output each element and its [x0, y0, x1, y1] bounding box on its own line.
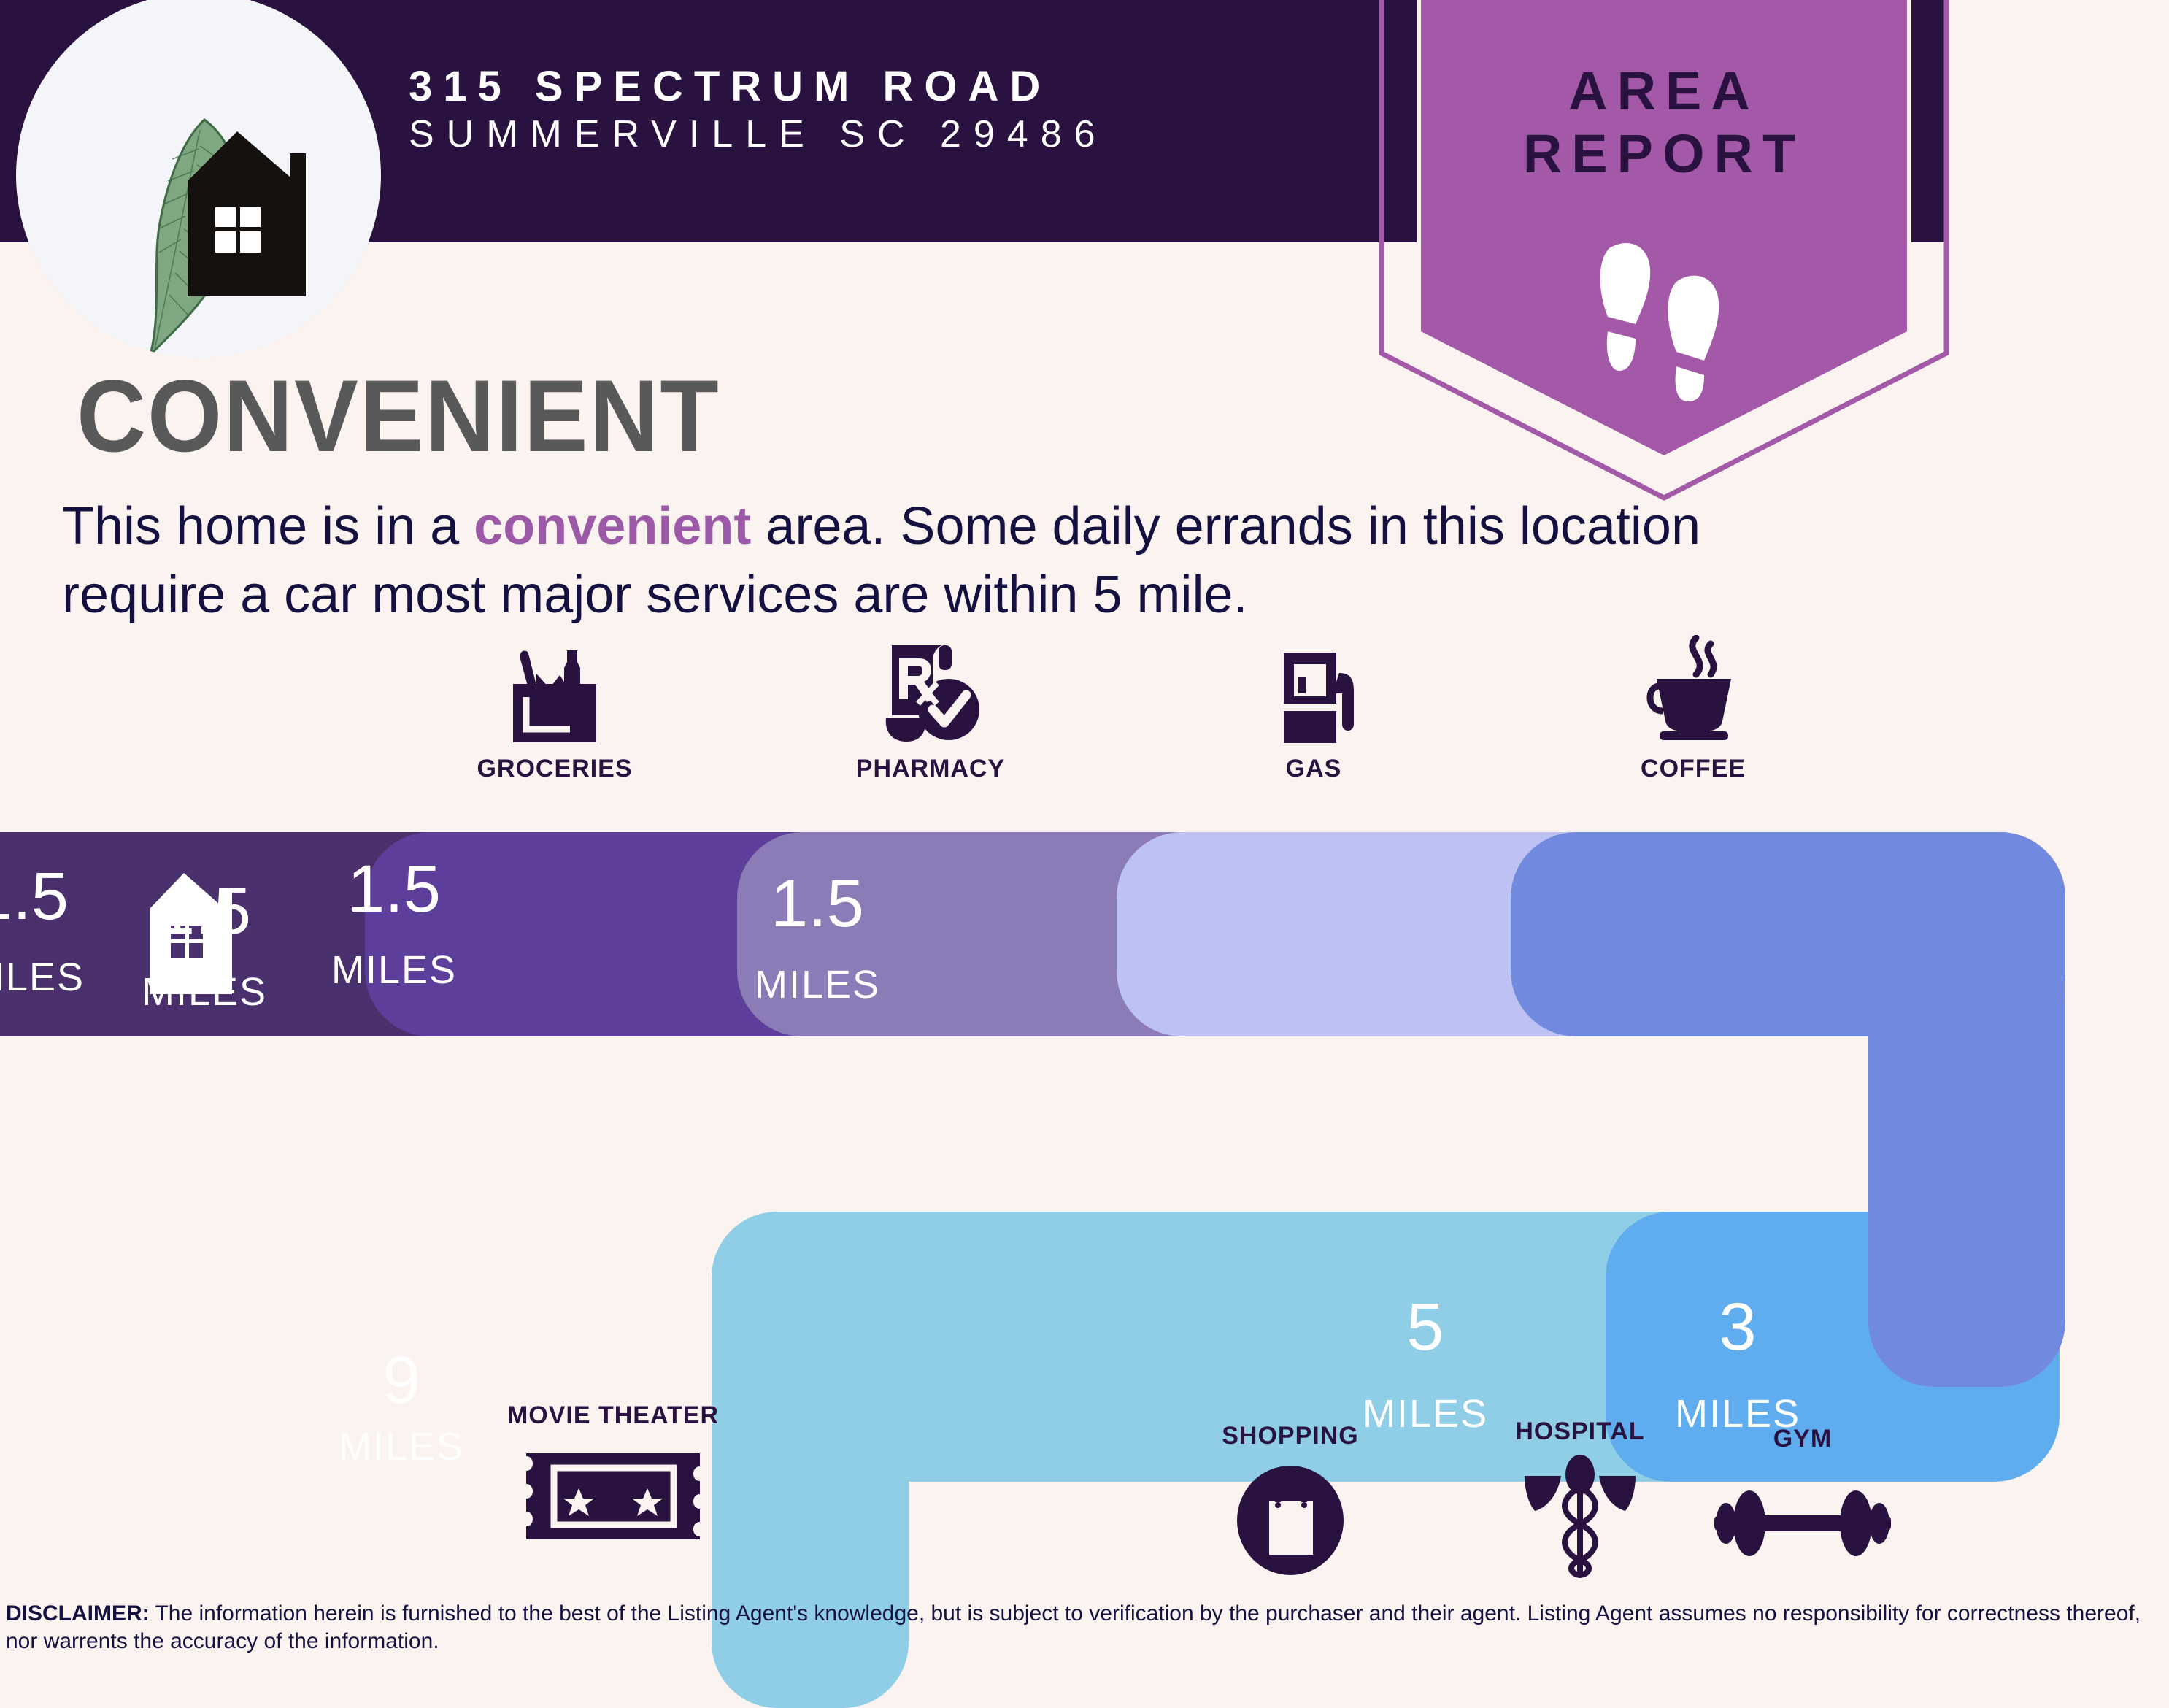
description-text: This home is in a convenient area. Some … [62, 493, 1843, 629]
page-title: CONVENIENT [77, 365, 720, 467]
bar-coffee-tail [1868, 978, 2065, 1387]
bar-value: 9 [292, 1347, 511, 1414]
description-highlight: convenient [474, 497, 751, 555]
disclaimer-text: The information herein is furnished to t… [6, 1601, 2141, 1653]
header-address: 315 SPECTRUM ROAD SUMMERVILLE SC 29486 [409, 66, 1108, 157]
bar-unit: MILES [540, 965, 1095, 1004]
footprints-icon [1595, 235, 1733, 403]
grocery-bag-icon [438, 642, 671, 745]
badge-line-1: AREA [1376, 60, 1952, 123]
service-shopping: SHOPPING [1159, 1422, 1422, 1579]
service-gym: GYM [1671, 1425, 1934, 1582]
badge-title: AREA REPORT [1376, 60, 1952, 185]
disclaimer: DISCLAIMER: The information herein is fu… [6, 1600, 2165, 1656]
gas-pump-icon [1197, 642, 1430, 745]
service-label: PHARMACY [814, 755, 1047, 783]
service-label: SHOPPING [1159, 1422, 1422, 1450]
service-label: COFFEE [1576, 755, 1810, 783]
top-service-icons: GROCERIES PHARMACY [0, 642, 2169, 818]
service-pharmacy: PHARMACY [814, 642, 1047, 783]
movie-ticket-icon [522, 1449, 704, 1544]
bar-value: 1.5 [540, 870, 1095, 937]
logo-circle [16, 0, 381, 358]
shopping-bag-circle-icon [1159, 1462, 1422, 1579]
description-part-1: This home is in a [62, 497, 474, 555]
service-label: GROCERIES [438, 755, 671, 783]
address-line-2: SUMMERVILLE SC 29486 [409, 112, 1108, 157]
service-label: GAS [1197, 755, 1430, 783]
service-groceries: GROCERIES [438, 642, 671, 783]
service-label-movie-theater: MOVIE THEATER [496, 1401, 730, 1430]
address-line-1: 315 SPECTRUM ROAD [409, 66, 1108, 108]
bar-coffee: 1.5 MILES [1511, 832, 2065, 1036]
bar-unit: MILES [292, 1427, 511, 1466]
house-icon [173, 131, 319, 299]
prescription-rx-icon [814, 642, 1047, 745]
area-report-badge: AREA REPORT [1376, 0, 1952, 505]
dumbbell-icon [1671, 1465, 1934, 1582]
disclaimer-label: DISCLAIMER: [6, 1601, 150, 1626]
coffee-cup-icon [1576, 642, 1810, 745]
bar-movie-theater-tail [712, 1372, 909, 1708]
service-label: GYM [1671, 1425, 1934, 1453]
badge-line-2: REPORT [1376, 123, 1952, 185]
service-gas: GAS [1197, 642, 1430, 783]
service-coffee: COFFEE [1576, 642, 1810, 783]
